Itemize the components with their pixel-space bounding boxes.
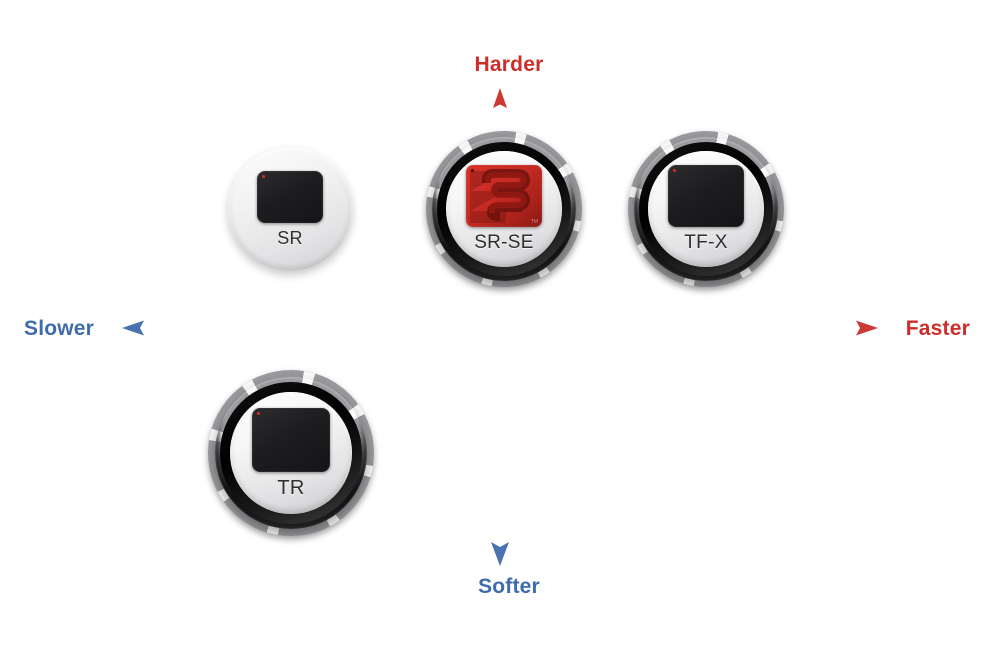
axis-label-harder-text: Harder <box>475 53 544 76</box>
watch-tr-screen <box>252 408 330 472</box>
axis-right-faster <box>500 321 878 336</box>
axis-label-slower: Slower <box>24 317 94 341</box>
trademark-mark: TM <box>531 220 538 225</box>
watch-tf-x-screen <box>668 165 744 227</box>
watch-sr[interactable]: SR <box>228 147 352 271</box>
watch-tf-x-face: TF-X <box>648 151 763 266</box>
axis-label-faster: Faster <box>906 317 970 341</box>
watch-tr-face: TR <box>230 392 352 514</box>
axis-lines <box>0 0 1000 653</box>
quadrant-chart-canvas: Harder Softer Slower Faster SR TM <box>0 0 1000 653</box>
axis-label-softer: Softer <box>0 575 1000 599</box>
watch-sr-body: SR <box>228 147 352 271</box>
axis-down-softer <box>491 328 509 566</box>
watch-sr-se[interactable]: TM SR-SE <box>432 137 576 281</box>
axis-left-slower <box>122 321 500 336</box>
watch-sr-se-screen: TM <box>466 165 542 227</box>
watch-sr-screen <box>257 171 323 223</box>
watch-sr-se-label: SR-SE <box>474 233 534 252</box>
indicator-dot-icon <box>673 169 676 172</box>
indicator-dot-icon <box>262 175 265 178</box>
watch-sr-se-face: TM SR-SE <box>446 151 561 266</box>
watch-tr[interactable]: TR <box>215 377 367 529</box>
axis-label-harder: Harder <box>0 53 1000 77</box>
watch-tf-x[interactable]: TF-X <box>634 137 778 281</box>
indicator-dot-icon <box>257 412 260 415</box>
watch-tr-label: TR <box>277 478 304 498</box>
watch-sr-label: SR <box>277 229 303 247</box>
axis-label-softer-text: Softer <box>478 575 540 598</box>
serpentine-s-logo-icon <box>466 165 542 227</box>
watch-tf-x-label: TF-X <box>684 233 727 252</box>
